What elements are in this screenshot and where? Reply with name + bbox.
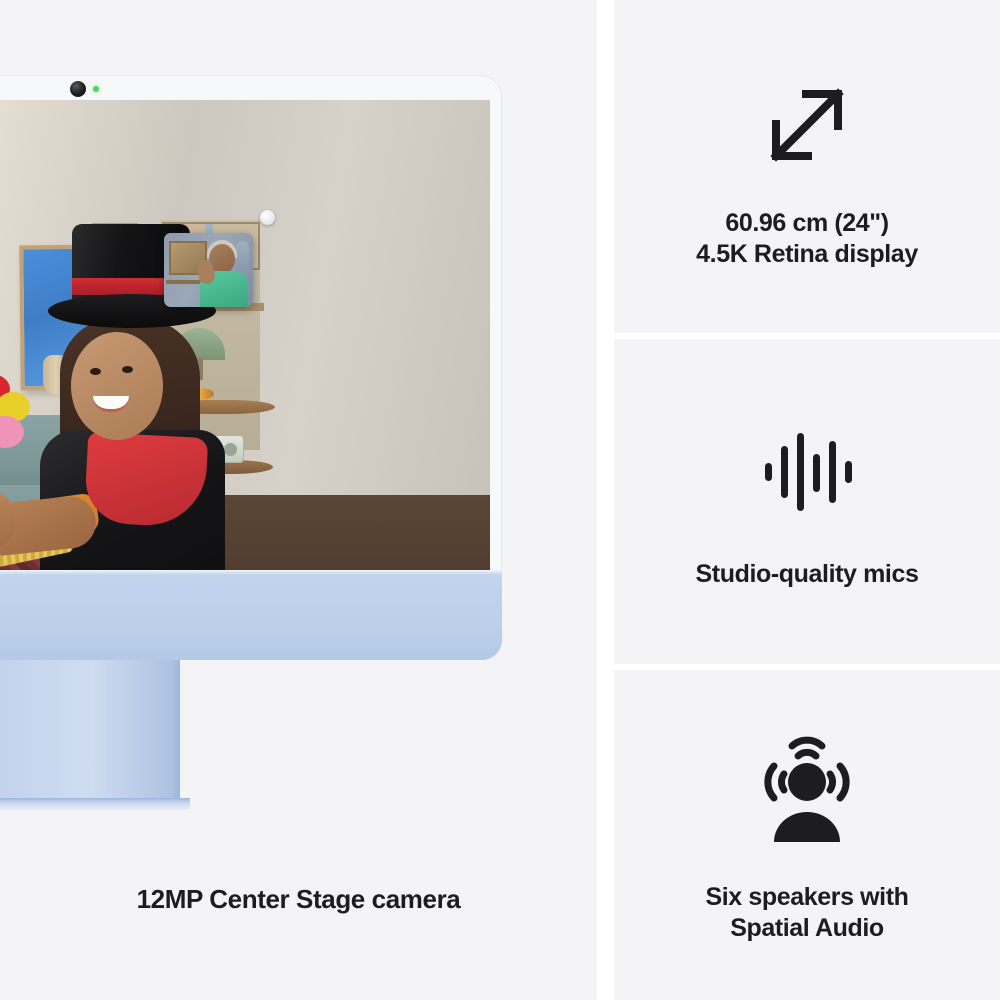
feature-card-display: 60.96 cm (24") 4.5K Retina display <box>614 0 1000 333</box>
feature-cards-column: 60.96 cm (24") 4.5K Retina display Studi… <box>614 0 1000 1000</box>
camera-caption: 12MP Center Stage camera <box>0 884 597 915</box>
feature-card-mics-label: Studio-quality mics <box>696 559 919 590</box>
facetime-call-scene <box>0 100 490 570</box>
imac-chin-highlight <box>0 570 502 575</box>
facetime-control-button[interactable] <box>260 210 275 225</box>
imac-stand-neck <box>0 660 180 805</box>
spatial-audio-person-icon <box>748 730 866 848</box>
facetime-pip-window[interactable] <box>164 233 253 307</box>
feature-card-mics: Studio-quality mics <box>614 339 1000 664</box>
imac-stand-foot <box>0 798 190 810</box>
imac-showcase-panel: 12MP Center Stage camera <box>0 0 597 1000</box>
expand-arrows-icon <box>752 70 862 180</box>
camera-lens-icon <box>70 81 86 97</box>
camera-indicator-light-icon <box>93 86 99 92</box>
imac-chin-blue <box>0 570 502 660</box>
imac-display-screen <box>0 100 490 570</box>
girl-eye-left <box>90 368 101 375</box>
feature-card-speakers-label: Six speakers with Spatial Audio <box>705 882 908 943</box>
feature-card-speakers: Six speakers with Spatial Audio <box>614 670 1000 1000</box>
feature-card-display-label: 60.96 cm (24") 4.5K Retina display <box>696 208 918 269</box>
girl-face <box>71 332 163 440</box>
audio-waveform-icon <box>759 423 855 519</box>
girl-eye-right <box>122 366 133 373</box>
product-feature-layout: 12MP Center Stage camera 60.96 cm (24") … <box>0 0 1000 1000</box>
